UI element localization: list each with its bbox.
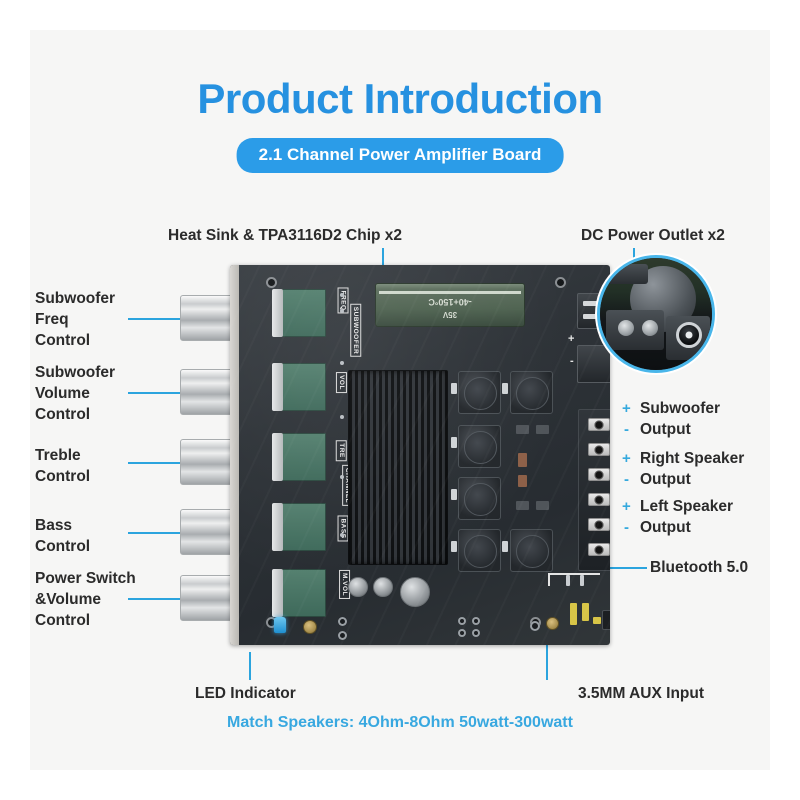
terminal-subwoofer-minus — [588, 443, 610, 456]
silk-subwoofer: SUBWOOFER — [350, 304, 361, 357]
via-2 — [340, 309, 344, 313]
amplifier-board: FREQ SUBWOOFER VOL TRE CHANNEL BASS M.VO… — [230, 265, 610, 645]
inductor-pad-3 — [451, 489, 457, 500]
smd-resistor-1 — [516, 425, 529, 434]
electrolytic-capacitor: -40+150°C 35V — [375, 283, 525, 327]
pad-7 — [530, 621, 540, 631]
right-speaker-plus-sign: + — [622, 448, 631, 469]
ground-jack — [546, 617, 559, 630]
terminal-left-speaker-plus — [588, 518, 610, 531]
via-6 — [340, 533, 344, 537]
via-3 — [340, 361, 344, 365]
callout-heat-sink-label: Heat Sink & TPA3116D2 Chip x2 — [168, 225, 402, 246]
pot-collar-3 — [272, 433, 283, 481]
terminal-left-speaker-minus — [588, 543, 610, 556]
via-5 — [340, 475, 344, 479]
callout-subwoofer-output-label: Subwoofer Output — [640, 398, 720, 440]
capacitor-voltage: 35V — [376, 310, 524, 319]
test-point-jack — [303, 620, 317, 634]
board-left-edge — [230, 265, 239, 645]
inductor-6 — [510, 529, 553, 572]
small-can-1 — [348, 577, 368, 597]
pad-1 — [338, 617, 347, 626]
yellow-capacitor-1 — [570, 603, 577, 625]
pot-collar-4 — [272, 503, 283, 551]
leader-led-indicator — [249, 652, 251, 680]
pot-collar-1 — [272, 289, 283, 337]
silk-dc-plus: + — [568, 333, 574, 345]
left-speaker-plus-sign: + — [622, 496, 631, 517]
bluetooth-antenna-stub-2 — [580, 575, 584, 586]
inductor-pad-1 — [451, 383, 457, 394]
yellow-capacitor-3 — [593, 617, 601, 624]
capacitor-band — [379, 291, 521, 294]
pad-2 — [338, 631, 347, 640]
pot-collar-5 — [272, 569, 283, 617]
inductor-5 — [510, 371, 553, 414]
smd-resistor-4 — [536, 501, 549, 510]
pad-5 — [458, 629, 466, 637]
inductor-pad-6 — [502, 541, 508, 552]
speaker-terminal-block — [578, 409, 610, 571]
callout-aux-input-label: 3.5MM AUX Input — [578, 683, 704, 704]
inductor-pad-2 — [451, 437, 457, 448]
silk-tre: TRE — [336, 440, 347, 461]
callout-left-speaker-output-label: Left Speaker Output — [640, 496, 733, 538]
callout-subwoofer-freq-label: Subwoofer Freq Control — [35, 288, 115, 351]
silk-vol: VOL — [336, 372, 347, 393]
pot-body-bass — [282, 503, 326, 551]
page-title: Product Introduction — [30, 75, 770, 123]
callout-led-indicator-label: LED Indicator — [195, 683, 296, 704]
callout-right-speaker-output-label: Right Speaker Output — [640, 448, 744, 490]
heat-sink — [348, 370, 448, 565]
via-4 — [340, 415, 344, 419]
inductor-pad-5 — [502, 383, 508, 394]
led-indicator — [274, 617, 286, 633]
callout-subwoofer-volume-label: Subwoofer Volume Control — [35, 362, 115, 425]
callout-bluetooth-label: Bluetooth 5.0 — [650, 557, 748, 578]
subwoofer-minus-sign: - — [624, 419, 629, 440]
terminal-subwoofer-plus — [588, 418, 610, 431]
pot-body-master-volume — [282, 569, 326, 617]
inset-top-component — [608, 264, 648, 284]
pot-body-treble — [282, 433, 326, 481]
left-speaker-minus-sign: - — [624, 517, 629, 538]
callout-power-switch-label: Power Switch &Volume Control — [35, 568, 136, 631]
dc-power-outlet-photo-inset — [597, 255, 715, 373]
inset-screw-1 — [618, 320, 634, 336]
callout-dc-power-label: DC Power Outlet x2 — [581, 225, 725, 246]
silk-dc-minus: - — [570, 355, 574, 367]
pot-collar-2 — [272, 363, 283, 411]
callout-treble-label: Treble Control — [35, 445, 90, 487]
pot-body-subwoofer-freq — [282, 289, 326, 337]
right-speaker-minus-sign: - — [624, 469, 629, 490]
inductor-3 — [458, 477, 501, 520]
small-can-2 — [373, 577, 393, 597]
footer-spec-text: Match Speakers: 4Ohm-8Ohm 50watt-300watt — [30, 714, 770, 732]
bluetooth-antenna-trace — [548, 573, 600, 586]
mounting-hole-top-right — [555, 277, 566, 288]
callout-bass-label: Bass Control — [35, 515, 90, 557]
smd-resistor-3 — [516, 501, 529, 510]
yellow-capacitor-2 — [582, 603, 589, 621]
smd-diode-1 — [518, 453, 527, 467]
via-1 — [340, 293, 344, 297]
inductor-pad-4 — [451, 541, 457, 552]
pad-4 — [472, 617, 480, 625]
inductor-2 — [458, 425, 501, 468]
terminal-right-speaker-minus — [588, 493, 610, 506]
inset-dc-jack — [676, 322, 702, 348]
leader-aux-input — [546, 642, 548, 680]
silk-bass: BASS — [338, 515, 349, 541]
mounting-hole-top-left — [266, 277, 277, 288]
infographic-canvas: Product Introduction 2.1 Channel Power A… — [30, 30, 770, 770]
aux-jack — [602, 610, 610, 630]
subwoofer-plus-sign: + — [622, 398, 631, 419]
smd-diode-2 — [518, 475, 527, 487]
smd-resistor-2 — [536, 425, 549, 434]
inductor-1 — [458, 371, 501, 414]
capacitor-temp-range: -40+150°C — [376, 297, 524, 307]
pad-3 — [458, 617, 466, 625]
crystal-can — [400, 577, 430, 607]
pot-body-subwoofer-volume — [282, 363, 326, 411]
terminal-right-speaker-plus — [588, 468, 610, 481]
inset-screw-2 — [642, 320, 658, 336]
subtitle-badge: 2.1 Channel Power Amplifier Board — [237, 138, 564, 173]
bluetooth-antenna-stub-1 — [566, 575, 570, 586]
inductor-4 — [458, 529, 501, 572]
pad-6 — [472, 629, 480, 637]
